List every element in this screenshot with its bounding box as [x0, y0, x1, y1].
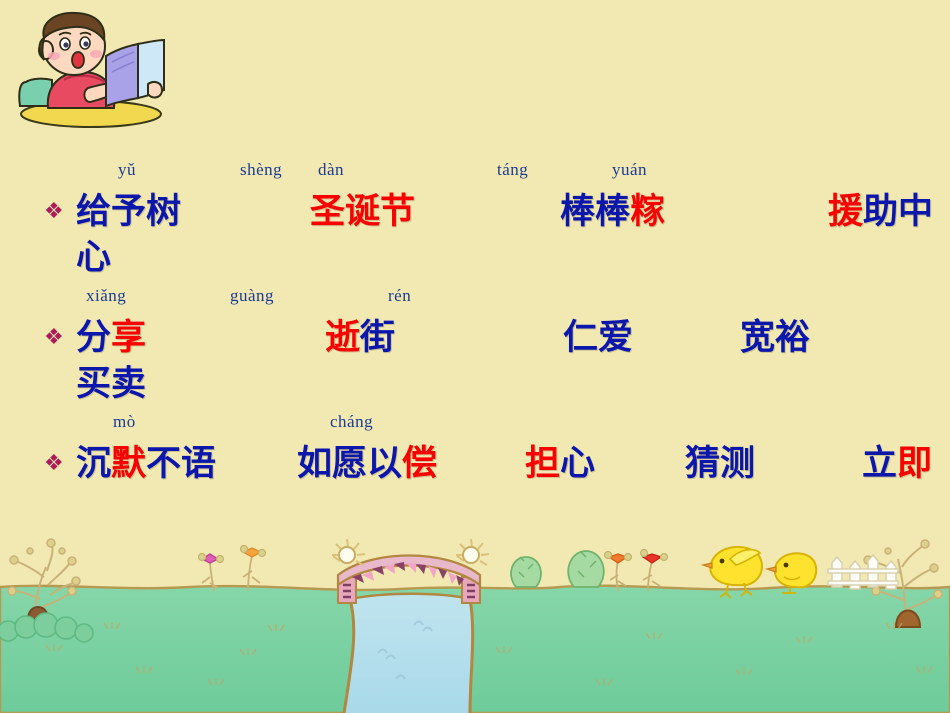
character: 诞: [345, 192, 380, 232]
vocabulary-term-overflow[interactable]: 买卖: [76, 358, 146, 410]
character: 即: [897, 444, 932, 484]
vocabulary-group-3: mò cháng ❖ 沉默不语 如愿以偿 担心 猜测 立即: [0, 412, 950, 490]
vocabulary-term[interactable]: 宽裕: [740, 312, 810, 364]
pinyin: dàn: [318, 160, 344, 180]
character: 援: [828, 192, 863, 232]
pinyin-row-1: yǔ shèng dàn táng yuán: [0, 160, 950, 186]
character: 给: [76, 192, 111, 232]
vocabulary-term[interactable]: 立即: [862, 438, 932, 490]
pinyin: táng: [497, 160, 528, 180]
bullet-diamond-icon: ❖: [44, 186, 64, 238]
grass-tufts: [46, 622, 932, 685]
character: 棒: [595, 192, 630, 232]
vocabulary-group-2: xiǎng guàng rén ❖ 分享 逝街 仁爱 宽裕 买卖: [0, 286, 950, 412]
vocabulary-term[interactable]: 分享: [76, 312, 146, 364]
pinyin-row-3: mò cháng: [0, 412, 950, 438]
character: 糘: [630, 192, 665, 232]
vocabulary-term[interactable]: 圣诞节: [310, 186, 415, 238]
vocabulary-term[interactable]: 给予树: [76, 186, 181, 238]
character: 街: [360, 318, 395, 358]
pinyin: yuán: [612, 160, 647, 180]
character: 卖: [111, 364, 146, 404]
character: 爱: [598, 318, 633, 358]
character: 沉: [76, 444, 111, 484]
vocabulary-term[interactable]: 猜测: [685, 438, 755, 490]
vocabulary-term[interactable]: 沉默不语: [76, 438, 216, 490]
meadow-border-illustration: [0, 533, 950, 713]
shrubs: [511, 551, 604, 587]
vocabulary-group-1: yǔ shèng dàn táng yuán ❖ 给予树 圣诞节 棒棒糘 援助中…: [0, 160, 950, 286]
word-row-1: ❖ 给予树 圣诞节 棒棒糘 援助中 心: [0, 186, 950, 286]
character: 仁: [563, 318, 598, 358]
vocabulary-term[interactable]: 逝街: [325, 312, 395, 364]
bullet-diamond-icon: ❖: [44, 438, 64, 490]
character: 宽: [740, 318, 775, 358]
character: 逝: [325, 318, 360, 358]
vocabulary-term[interactable]: 援助中: [828, 186, 933, 238]
character: 担: [525, 444, 560, 484]
vocabulary-term[interactable]: 棒棒糘: [560, 186, 665, 238]
word-row-2: ❖ 分享 逝街 仁爱 宽裕 买卖: [0, 312, 950, 412]
boy-reading-book-clipart: [12, 10, 170, 128]
bullet-diamond-icon: ❖: [44, 312, 64, 364]
character: 猜: [685, 444, 720, 484]
vocabulary-term[interactable]: 如愿以偿: [297, 438, 437, 490]
bridge-illustration: [332, 539, 489, 603]
chick-flying: [703, 547, 762, 598]
vocabulary-term[interactable]: 仁爱: [563, 312, 633, 364]
vocabulary-list: yǔ shèng dàn táng yuán ❖ 给予树 圣诞节 棒棒糘 援助中…: [0, 160, 950, 490]
character: 圣: [310, 192, 345, 232]
vocabulary-term[interactable]: 担心: [525, 438, 595, 490]
character: 树: [146, 192, 181, 232]
character: 棒: [560, 192, 595, 232]
pinyin: rén: [388, 286, 411, 306]
pinyin: guàng: [230, 286, 274, 306]
character: 享: [111, 318, 146, 358]
character: 助: [863, 192, 898, 232]
character: 心: [560, 444, 595, 484]
character: 节: [380, 192, 415, 232]
character: 以: [367, 444, 402, 484]
character: 如: [297, 444, 332, 484]
character: 心: [76, 238, 111, 278]
vocabulary-term-overflow[interactable]: 心: [76, 232, 111, 284]
pinyin: cháng: [330, 412, 373, 432]
slide-canvas: yǔ shèng dàn táng yuán ❖ 给予树 圣诞节 棒棒糘 援助中…: [0, 0, 950, 713]
character: 偿: [402, 444, 437, 484]
character: 买: [76, 364, 111, 404]
bare-tree-right: [870, 545, 936, 623]
character: 中: [898, 192, 933, 232]
flowers: [199, 546, 668, 592]
character: 不: [146, 444, 181, 484]
picket-fence: [828, 555, 898, 589]
character: 测: [720, 444, 755, 484]
bare-tree-left: [14, 545, 74, 619]
character: 裕: [775, 318, 810, 358]
character: 予: [111, 192, 146, 232]
character: 分: [76, 318, 111, 358]
character: 语: [181, 444, 216, 484]
pinyin: xiǎng: [86, 286, 126, 306]
character: 愿: [332, 444, 367, 484]
chick-standing: [767, 553, 816, 593]
word-row-3: ❖ 沉默不语 如愿以偿 担心 猜测 立即: [0, 438, 950, 490]
character: 立: [862, 444, 897, 484]
pinyin-row-2: xiǎng guàng rén: [0, 286, 950, 312]
character: 默: [111, 444, 146, 484]
pinyin: shèng: [240, 160, 282, 180]
pinyin: mò: [113, 412, 136, 432]
pinyin: yǔ: [118, 160, 136, 180]
